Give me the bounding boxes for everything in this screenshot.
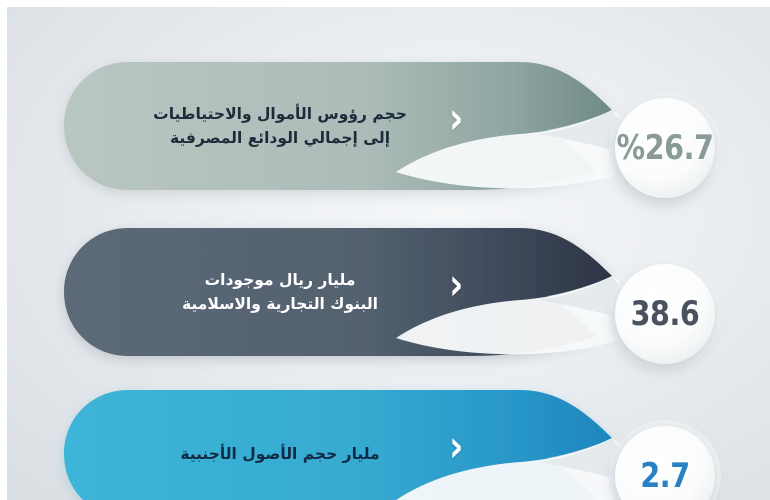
- chevron-left-icon: ‹: [449, 264, 463, 308]
- infographic-rows: حجم رؤوس الأموال والاحتياطياتإلى إجمالي …: [0, 0, 770, 500]
- badge-value-foreign-assets-volume: 2.7: [615, 456, 716, 496]
- badge-value-capital-reserves-to-deposits: %26.7: [615, 128, 716, 168]
- chevron-left-icon: ‹: [449, 426, 463, 470]
- infographic-canvas: حجم رؤوس الأموال والاحتياطياتإلى إجمالي …: [0, 0, 770, 500]
- infographic-row: مليار حجم الأصول الأجنبية ‹ 2.7: [0, 328, 770, 500]
- chevron-left-icon: ‹: [449, 98, 463, 142]
